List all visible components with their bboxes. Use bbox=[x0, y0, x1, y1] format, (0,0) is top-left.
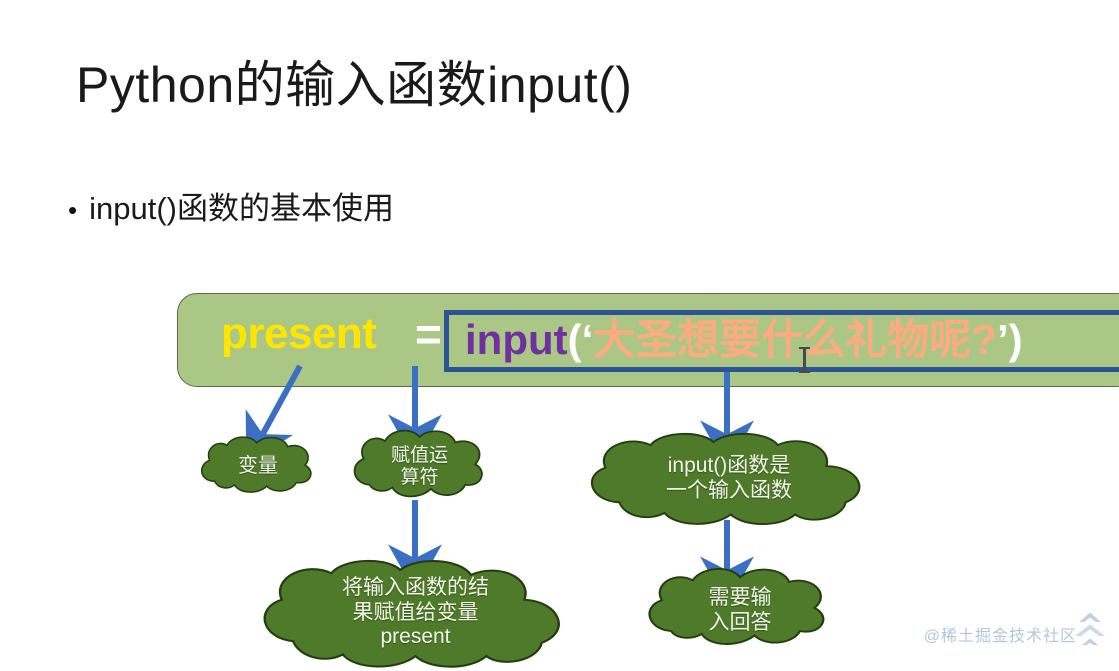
code-close-quote-paren-token: ’) bbox=[997, 316, 1023, 363]
cloud-label: input()函数是 一个输入函数 bbox=[660, 454, 798, 504]
annotation-cloud-operator: 赋值运 算符 bbox=[348, 426, 491, 508]
bullet-dot-icon: • bbox=[68, 197, 77, 223]
text-cursor-icon bbox=[803, 347, 806, 373]
annotation-cloud-variable: 变量 bbox=[196, 433, 320, 501]
annotation-cloud-assign-result: 将输入函数的结 果赋值给变量 present bbox=[253, 555, 578, 671]
code-assign-operator-token: = bbox=[415, 307, 442, 361]
bullet-item: • input()函数的基本使用 bbox=[68, 183, 394, 228]
page-title: Python的输入函数input() bbox=[76, 58, 632, 113]
annotation-cloud-input-function: input()函数是 一个输入函数 bbox=[581, 430, 877, 528]
cloud-label: 变量 bbox=[232, 455, 284, 479]
watermark: @稀土掘金技术社区 bbox=[924, 611, 1107, 657]
function-call-highlight-box: input(‘大圣想要什么礼物呢?’) bbox=[444, 310, 1119, 372]
code-open-paren-quote-token: (‘ bbox=[568, 316, 594, 363]
code-statement: present = input(‘大圣想要什么礼物呢?’) bbox=[178, 294, 1119, 386]
bullet-item-label: input()函数的基本使用 bbox=[89, 183, 394, 228]
code-banner: present = input(‘大圣想要什么礼物呢?’) bbox=[177, 293, 1119, 387]
cloud-label: 赋值运 算符 bbox=[385, 445, 454, 490]
cloud-label: 将输入函数的结 果赋值给变量 present bbox=[336, 576, 495, 650]
code-prompt-string-token: 大圣想要什么礼物呢? bbox=[593, 316, 997, 363]
annotation-cloud-need-answer: 需要输 入回答 bbox=[640, 565, 840, 657]
function-call-expression: input(‘大圣想要什么礼物呢?’) bbox=[465, 309, 1023, 371]
watermark-text: @稀土掘金技术社区 bbox=[924, 622, 1077, 646]
code-variable-token: present bbox=[221, 309, 376, 359]
juejin-logo-icon bbox=[1073, 611, 1107, 651]
code-function-name-token: input bbox=[465, 316, 568, 363]
cloud-label: 需要输 入回答 bbox=[703, 586, 778, 636]
